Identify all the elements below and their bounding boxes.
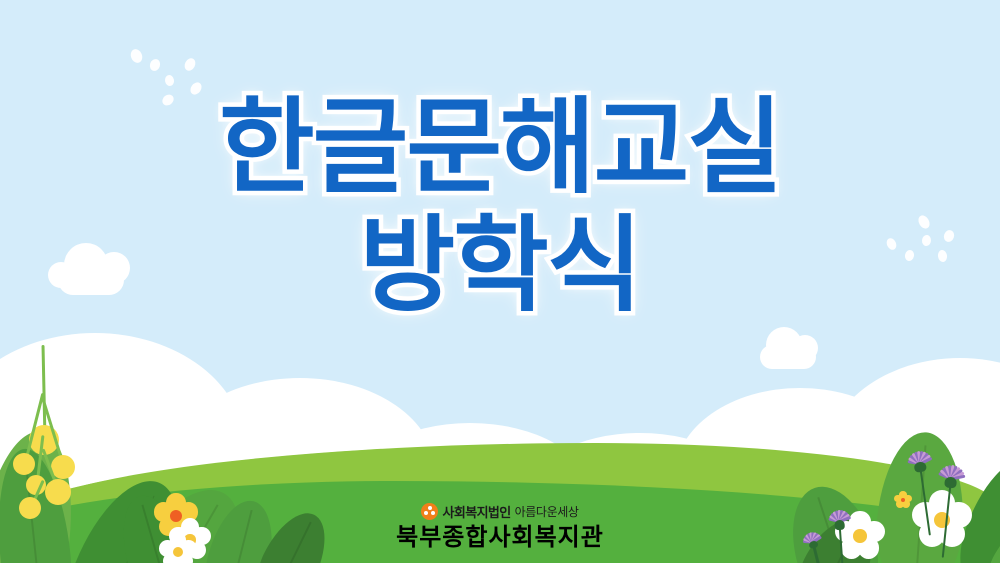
mimosa-ball-1 [13,453,35,475]
logo-center-name: 북부종합사회복지관 [0,525,1000,551]
thistle-far-right-bulb [914,461,927,473]
logo-slogan: 아름다운세상 [515,503,579,520]
thistle-right-bulb [944,476,958,488]
organization-logo: 사회복지법인 아름다운세상 북부종합사회복지관 [0,502,1000,551]
logo-org-label: 사회복지법인 [442,502,510,521]
event-poster: 한글문해교실 방학식 사회복지법인 아름다운세상 북부종합사회복지관 [0,0,1000,563]
logo-top-row: 사회복지법인 아름다운세상 [421,502,578,521]
three-dot-circle-icon [421,503,438,520]
cloud-icon-left [58,265,124,295]
